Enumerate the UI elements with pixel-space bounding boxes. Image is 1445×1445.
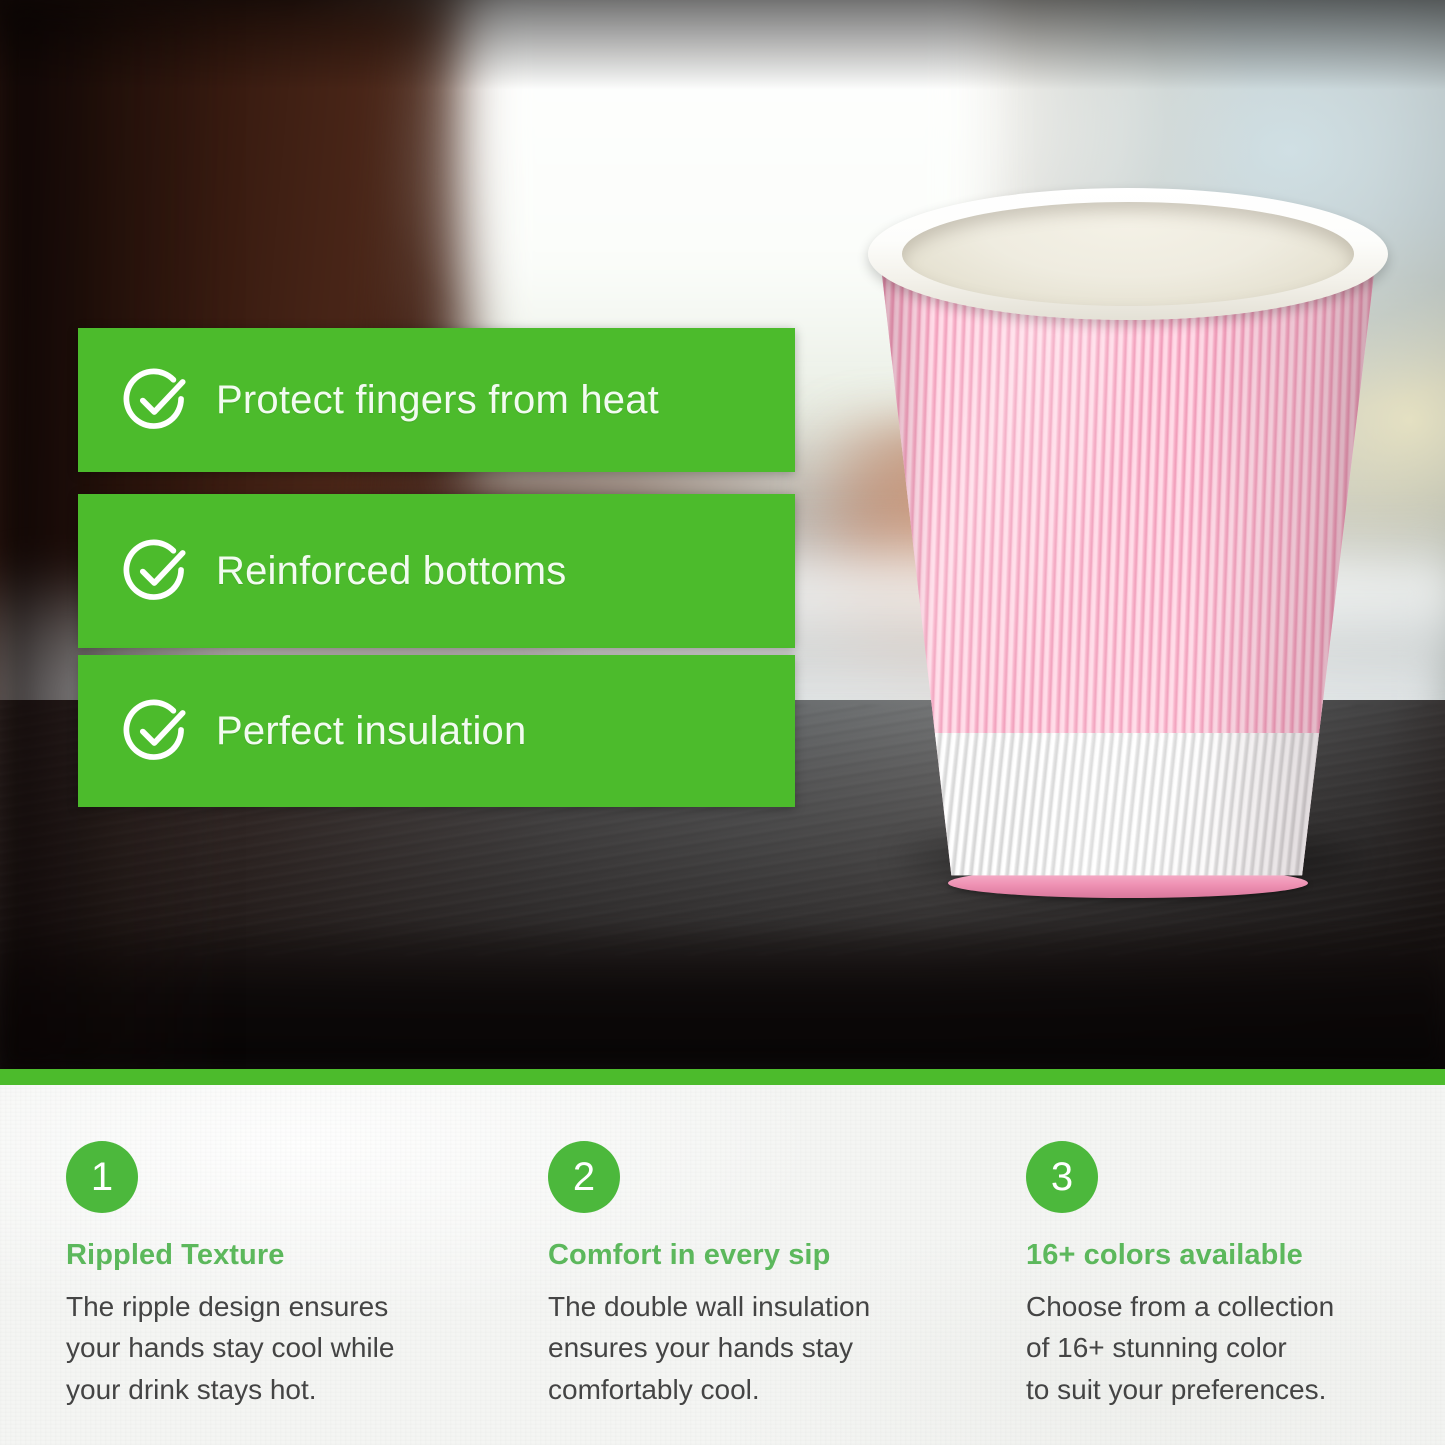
feature-column-1: 1 Rippled Texture The ripple design ensu… bbox=[0, 1085, 482, 1445]
product-infographic: Protect fingers from heat Reinforced bot… bbox=[0, 0, 1445, 1445]
benefit-banner-1[interactable]: Protect fingers from heat bbox=[78, 328, 795, 472]
feature-description: The double wall insulation ensures your … bbox=[548, 1286, 948, 1410]
benefit-banner-2[interactable]: Reinforced bottoms bbox=[78, 494, 795, 648]
feature-columns: 1 Rippled Texture The ripple design ensu… bbox=[0, 1085, 1445, 1445]
check-circle-icon bbox=[122, 696, 192, 766]
feature-number-badge: 2 bbox=[548, 1141, 620, 1213]
feature-details-strip: 1 Rippled Texture The ripple design ensu… bbox=[0, 1085, 1445, 1445]
check-circle-icon bbox=[122, 536, 192, 606]
feature-title: 16+ colors available bbox=[1026, 1239, 1445, 1272]
benefit-banner-label: Perfect insulation bbox=[216, 709, 526, 754]
feature-column-3: 3 16+ colors available Choose from a col… bbox=[964, 1085, 1445, 1445]
cup-body bbox=[872, 222, 1384, 882]
benefit-banner-3[interactable]: Perfect insulation bbox=[78, 655, 795, 807]
feature-title: Comfort in every sip bbox=[548, 1239, 964, 1272]
feature-title: Rippled Texture bbox=[66, 1239, 482, 1272]
benefit-banner-label: Reinforced bottoms bbox=[216, 549, 566, 594]
feature-description: Choose from a collection of 16+ stunning… bbox=[1026, 1286, 1426, 1410]
cup-highlight-sheen bbox=[872, 222, 1384, 882]
benefit-banner-label: Protect fingers from heat bbox=[216, 378, 659, 423]
paper-cup-product-image bbox=[858, 182, 1398, 922]
product-photo-panel: Protect fingers from heat Reinforced bot… bbox=[0, 0, 1445, 1072]
feature-number-badge: 3 bbox=[1026, 1141, 1098, 1213]
feature-number-badge: 1 bbox=[66, 1141, 138, 1213]
feature-column-2: 2 Comfort in every sip The double wall i… bbox=[482, 1085, 964, 1445]
check-circle-icon bbox=[122, 365, 192, 435]
top-vignette bbox=[0, 0, 1445, 90]
cup-interior bbox=[902, 202, 1354, 306]
green-divider-bar bbox=[0, 1069, 1445, 1085]
feature-description: The ripple design ensures your hands sta… bbox=[66, 1286, 466, 1410]
